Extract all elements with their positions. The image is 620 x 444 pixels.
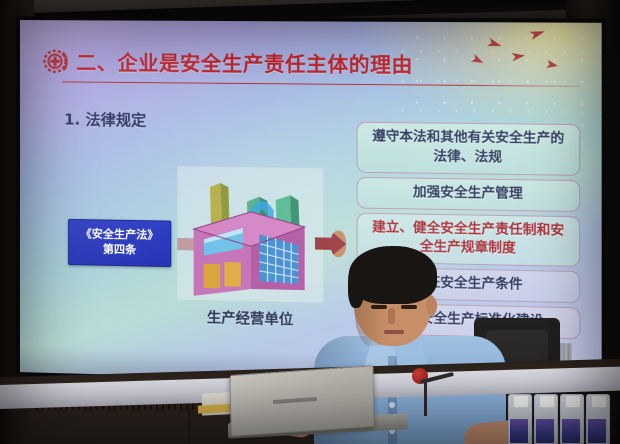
flying-doves-icon: ➤ ➤ ➤ ➤ ➤ xyxy=(407,22,598,106)
page-title: 二、企业是安全生产责任主体的理由 xyxy=(76,46,413,78)
section-subhead: 1. 法律规定 xyxy=(64,108,146,130)
slide-title-row: 二、企业是安全生产责任主体的理由 xyxy=(42,46,413,78)
law-title: 《安全生产法》 xyxy=(81,227,159,243)
water-bottles xyxy=(508,384,614,444)
duty-box: 加强安全生产管理 xyxy=(357,177,581,212)
factory-illustration: 生产经营单位 xyxy=(173,162,327,332)
law-article: 第四条 xyxy=(103,243,136,259)
factory-label: 生产经营单位 xyxy=(173,307,327,331)
microphone-stem xyxy=(424,382,427,416)
duty-box: 遵守本法和其他有关安全生产的法律、法规 xyxy=(357,122,581,176)
safety-cross-gear-emblem-icon xyxy=(42,47,70,75)
screenshot-root: ➤ ➤ ➤ ➤ ➤ 二、企业是安全生产责 xyxy=(0,0,620,444)
silver-laptop xyxy=(229,365,374,437)
law-reference-box: 《安全生产法》 第四条 xyxy=(68,219,171,267)
desk-panel-seam xyxy=(188,404,190,444)
